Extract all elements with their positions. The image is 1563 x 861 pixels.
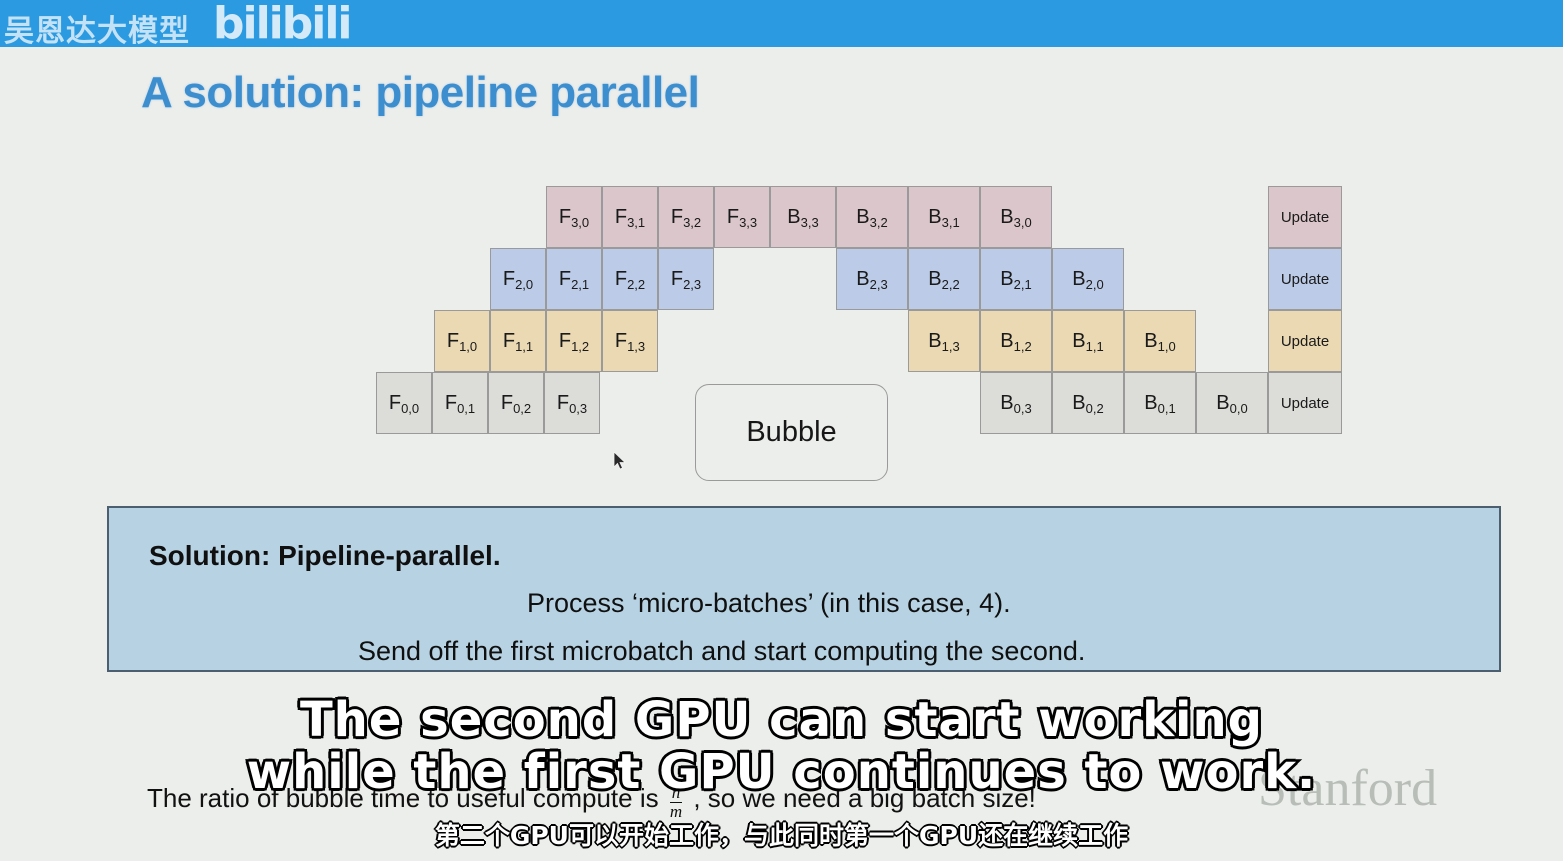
cell-f1-2: F1,2	[546, 310, 602, 372]
ratio-denominator: m	[670, 803, 682, 821]
video-player-top-bar: 吴恩达大模型 bilibili	[0, 0, 1563, 47]
cell-b0-2: B0,2	[1052, 372, 1124, 434]
cell-b1-1: B1,1	[1052, 310, 1124, 372]
cell-f0-0: F0,0	[376, 372, 432, 434]
cell-f3-2: F3,2	[658, 186, 714, 248]
cell-f2-0: F2,0	[490, 248, 546, 310]
cell-f1-0: F1,0	[434, 310, 490, 372]
ratio-fraction: n m	[670, 784, 682, 821]
cell-b1-3: B1,3	[908, 310, 980, 372]
cell-f0-1: F0,1	[432, 372, 488, 434]
cell-update-2: Update	[1268, 248, 1342, 310]
cell-update-1: Update	[1268, 310, 1342, 372]
cell-b3-1: B3,1	[908, 186, 980, 248]
cell-f0-2: F0,2	[488, 372, 544, 434]
cell-b1-0: B1,0	[1124, 310, 1196, 372]
cell-update-3: Update	[1268, 186, 1342, 248]
cell-f1-3: F1,3	[602, 310, 658, 372]
cell-b1-2: B1,2	[980, 310, 1052, 372]
cell-f2-3: F2,3	[658, 248, 714, 310]
bubble-ratio-note: The ratio of bubble time to useful compu…	[147, 782, 1036, 819]
ratio-note-suffix: , so we need a big batch size!	[693, 783, 1036, 813]
cell-b0-3: B0,3	[980, 372, 1052, 434]
ratio-numerator: n	[670, 784, 682, 802]
cell-b3-0: B3,0	[980, 186, 1052, 248]
cell-b2-3: B2,3	[836, 248, 908, 310]
bubble-label: Bubble	[746, 416, 836, 449]
mouse-cursor-icon	[613, 451, 627, 471]
cell-f2-2: F2,2	[602, 248, 658, 310]
solution-callout-box: Solution: Pipeline-parallel. Process ‘mi…	[107, 506, 1501, 672]
cell-f2-1: F2,1	[546, 248, 602, 310]
cell-f1-1: F1,1	[490, 310, 546, 372]
bilibili-logo: bilibili	[213, 0, 350, 49]
cell-f0-3: F0,3	[544, 372, 600, 434]
ratio-note-prefix: The ratio of bubble time to useful compu…	[147, 783, 659, 813]
cell-f3-0: F3,0	[546, 186, 602, 248]
cell-b0-0: B0,0	[1196, 372, 1268, 434]
cell-update-0: Update	[1268, 372, 1342, 434]
solution-heading: Solution: Pipeline-parallel.	[149, 540, 501, 572]
pipeline-schedule-diagram: F3,0 F3,1 F3,2 F3,3 B3,3 B3,2 B3,1 B3,0 …	[0, 47, 1563, 497]
cell-b2-2: B2,2	[908, 248, 980, 310]
cell-b0-1: B0,1	[1124, 372, 1196, 434]
slide-canvas: A solution: pipeline parallel Stanford F…	[0, 47, 1563, 861]
solution-line-2: Send off the first microbatch and start …	[358, 636, 1085, 667]
cell-b2-0: B2,0	[1052, 248, 1124, 310]
cell-b2-1: B2,1	[980, 248, 1052, 310]
cell-f3-1: F3,1	[602, 186, 658, 248]
bubble-region: Bubble	[695, 384, 888, 481]
stanford-watermark: Stanford	[1258, 759, 1437, 818]
cell-f3-3: F3,3	[714, 186, 770, 248]
solution-line-1: Process ‘micro-batches’ (in this case, 4…	[527, 588, 1011, 619]
channel-watermark-label: 吴恩达大模型	[4, 6, 190, 50]
cell-b3-3: B3,3	[770, 186, 836, 248]
cell-b3-2: B3,2	[836, 186, 908, 248]
